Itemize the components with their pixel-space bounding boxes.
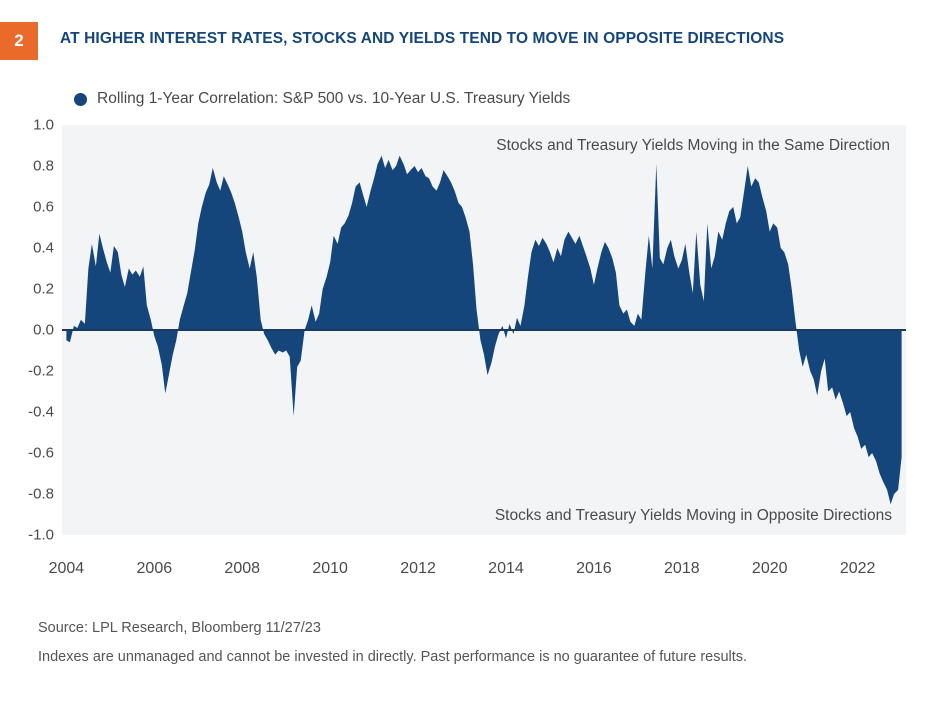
x-axis-tick-label: 2016 <box>576 560 612 578</box>
x-axis-tick-label: 2008 <box>224 560 260 578</box>
y-axis-tick-label: -0.2 <box>8 363 54 380</box>
y-axis: 1.00.80.60.40.20.0-0.2-0.4-0.6-0.8-1.0 <box>2 125 54 535</box>
y-axis-tick-label: 0.4 <box>8 240 54 257</box>
y-axis-tick-label: -1.0 <box>8 527 54 544</box>
correlation-area-series <box>62 125 906 535</box>
x-axis-tick-label: 2012 <box>400 560 436 578</box>
x-axis-tick-label: 2022 <box>840 560 876 578</box>
y-axis-tick-label: -0.8 <box>8 486 54 503</box>
x-axis-tick-label: 2010 <box>312 560 348 578</box>
x-axis-tick-label: 2020 <box>752 560 788 578</box>
y-axis-tick-label: -0.4 <box>8 404 54 421</box>
x-axis-tick-label: 2006 <box>137 560 173 578</box>
x-axis-tick-label: 2014 <box>488 560 524 578</box>
y-axis-tick-label: 0.0 <box>8 322 54 339</box>
annotation-opposite-direction: Stocks and Treasury Yields Moving in Opp… <box>495 507 892 525</box>
x-axis: 2004200620082010201220142016201820202022 <box>62 560 906 586</box>
y-axis-tick-label: 0.8 <box>8 158 54 175</box>
disclaimer-note: Indexes are unmanaged and cannot be inve… <box>38 649 928 665</box>
y-axis-tick-label: 0.6 <box>8 199 54 216</box>
y-axis-tick-label: -0.6 <box>8 445 54 462</box>
y-axis-tick-label: 0.2 <box>8 281 54 298</box>
chart-footer: Source: LPL Research, Bloomberg 11/27/23… <box>38 620 928 665</box>
x-axis-tick-label: 2004 <box>49 560 85 578</box>
plot-area: Stocks and Treasury Yields Moving in the… <box>62 125 906 535</box>
chart-container: 1.00.80.60.40.20.0-0.2-0.4-0.6-0.8-1.0 S… <box>0 0 944 706</box>
source-note: Source: LPL Research, Bloomberg 11/27/23 <box>38 620 928 636</box>
x-axis-tick-label: 2018 <box>664 560 700 578</box>
annotation-same-direction: Stocks and Treasury Yields Moving in the… <box>496 137 890 155</box>
y-axis-tick-label: 1.0 <box>8 117 54 134</box>
